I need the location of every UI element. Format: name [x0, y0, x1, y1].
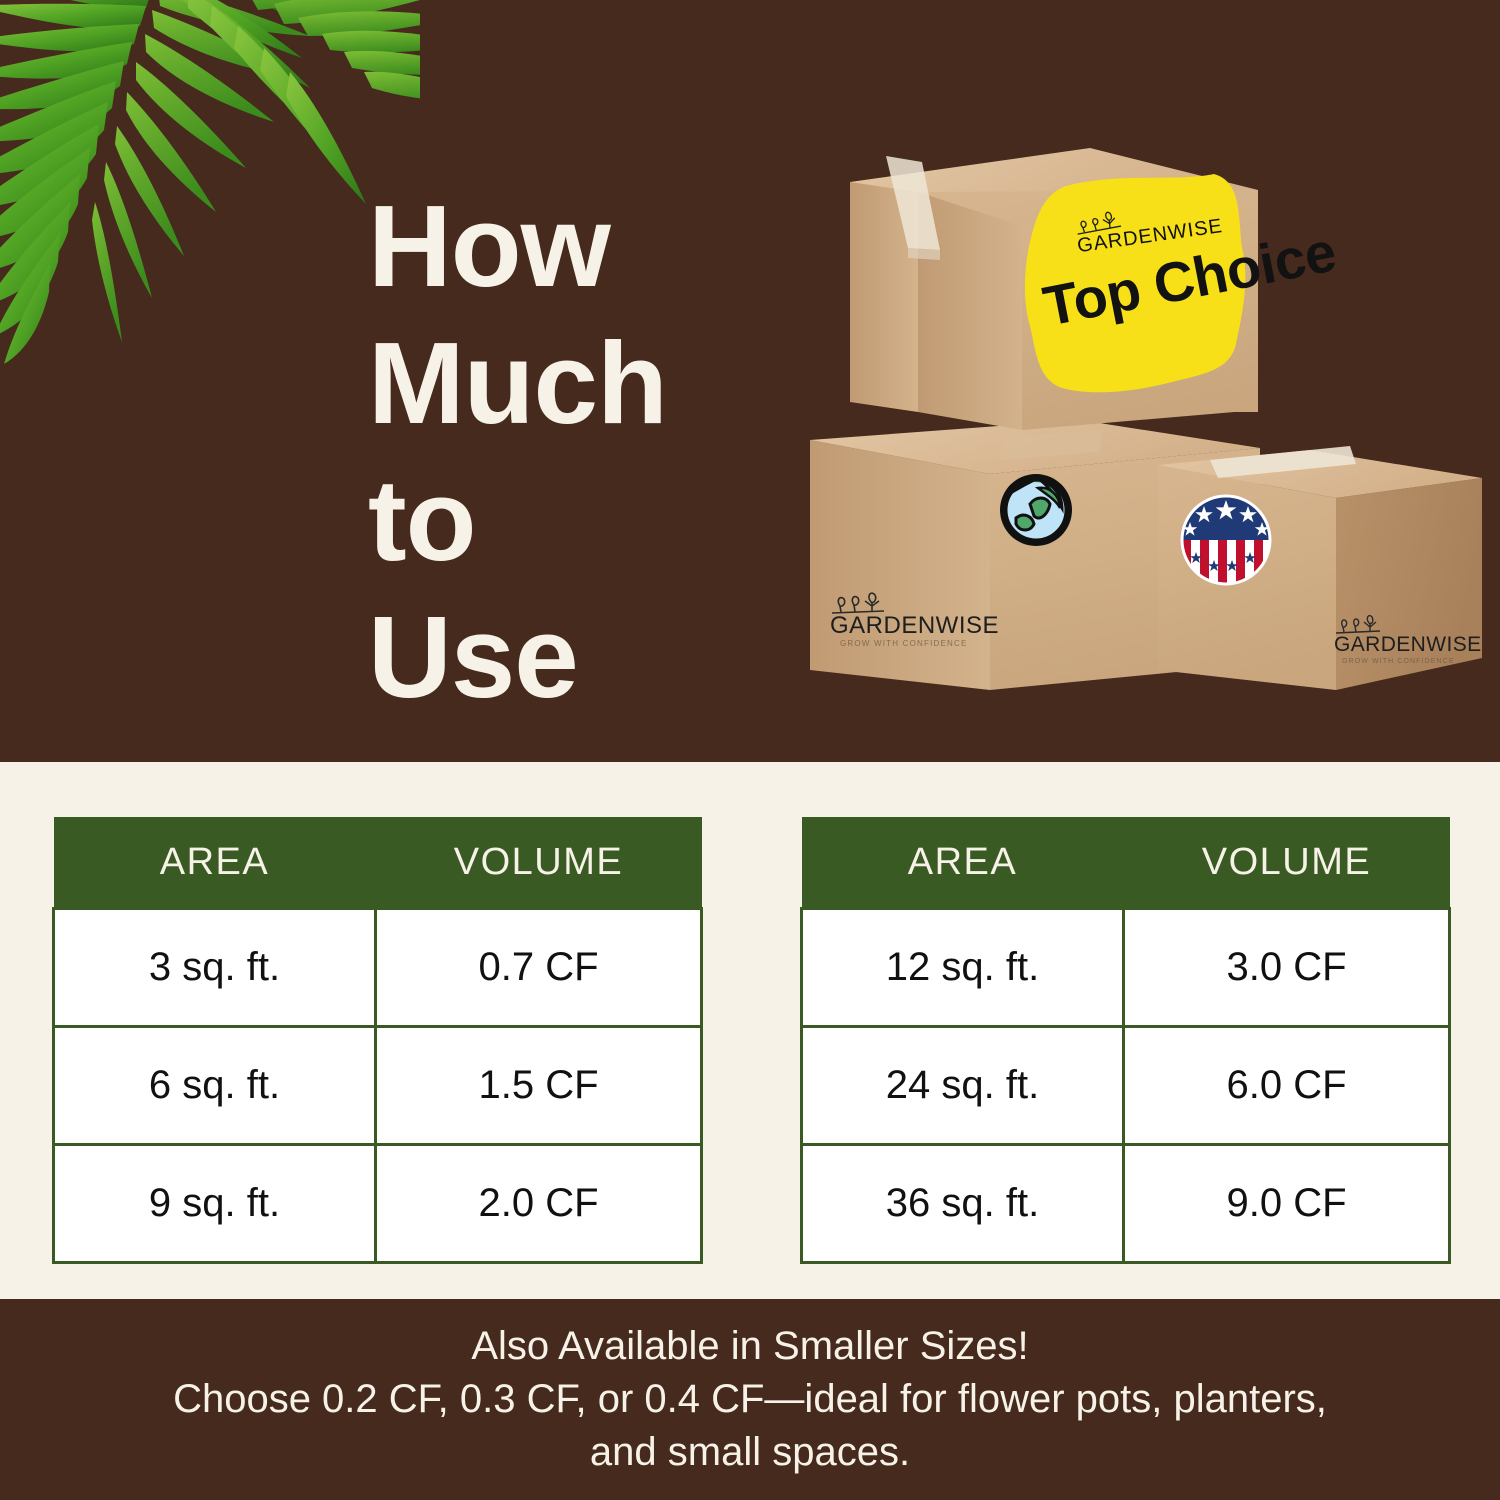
- column-header-area: AREA: [802, 817, 1124, 909]
- page-title: How Much to Use: [368, 178, 788, 726]
- product-boxes-image: GARDENWISE GROW WITH CONFIDENCE: [790, 130, 1490, 720]
- cell-volume: 1.5 CF: [376, 1027, 702, 1145]
- cell-volume: 9.0 CF: [1124, 1145, 1450, 1263]
- cell-area: 36 sq. ft.: [802, 1145, 1124, 1263]
- cell-volume: 3.0 CF: [1124, 909, 1450, 1027]
- cell-area: 6 sq. ft.: [54, 1027, 376, 1145]
- earth-leaf-icon: [1000, 474, 1072, 546]
- hero-section: How Much to Use: [0, 0, 1500, 762]
- tables-section: AREA VOLUME 3 sq. ft. 0.7 CF 6 sq. ft. 1…: [0, 762, 1500, 1299]
- title-line-3: Use: [368, 589, 788, 726]
- cell-volume: 6.0 CF: [1124, 1027, 1450, 1145]
- area-volume-table-right: AREA VOLUME 12 sq. ft. 3.0 CF 24 sq. ft.…: [800, 817, 1451, 1264]
- footer-section: Also Available in Smaller Sizes! Choose …: [0, 1299, 1500, 1500]
- title-line-2: Much to: [368, 315, 788, 589]
- footer-line-3: and small spaces.: [590, 1426, 910, 1479]
- box-top: GARDENWISE Top Choice: [850, 148, 1341, 430]
- svg-text:GARDENWISE: GARDENWISE: [1334, 633, 1482, 656]
- box-right: GARDENWISE GROW WITH CONFIDENCE: [1158, 446, 1482, 690]
- palm-frond-decoration: [0, 0, 420, 370]
- cell-volume: 0.7 CF: [376, 909, 702, 1027]
- table-header-row: AREA VOLUME: [802, 817, 1450, 909]
- cell-volume: 2.0 CF: [376, 1145, 702, 1263]
- svg-text:GARDENWISE: GARDENWISE: [830, 612, 999, 639]
- column-header-volume: VOLUME: [1124, 817, 1450, 909]
- footer-line-2: Choose 0.2 CF, 0.3 CF, or 0.4 CF—ideal f…: [173, 1373, 1327, 1426]
- table-row: 9 sq. ft. 2.0 CF: [54, 1145, 702, 1263]
- promo-infographic: How Much to Use: [0, 0, 1500, 1500]
- area-volume-table-left: AREA VOLUME 3 sq. ft. 0.7 CF 6 sq. ft. 1…: [52, 817, 703, 1264]
- table-header-row: AREA VOLUME: [54, 817, 702, 909]
- column-header-area: AREA: [54, 817, 376, 909]
- palm-frond-icon: [0, 0, 420, 370]
- cell-area: 12 sq. ft.: [802, 909, 1124, 1027]
- table-row: 24 sq. ft. 6.0 CF: [802, 1027, 1450, 1145]
- svg-text:GROW WITH CONFIDENCE: GROW WITH CONFIDENCE: [1342, 658, 1455, 665]
- footer-line-1: Also Available in Smaller Sizes!: [471, 1320, 1028, 1373]
- column-header-volume: VOLUME: [376, 817, 702, 909]
- stacked-boxes-illustration: GARDENWISE GROW WITH CONFIDENCE: [790, 130, 1490, 720]
- table-row: 12 sq. ft. 3.0 CF: [802, 909, 1450, 1027]
- title-line-1: How: [368, 178, 788, 315]
- table-row: 3 sq. ft. 0.7 CF: [54, 909, 702, 1027]
- cell-area: 24 sq. ft.: [802, 1027, 1124, 1145]
- table-row: 36 sq. ft. 9.0 CF: [802, 1145, 1450, 1263]
- cell-area: 9 sq. ft.: [54, 1145, 376, 1263]
- svg-text:GROW WITH CONFIDENCE: GROW WITH CONFIDENCE: [840, 639, 968, 648]
- table-row: 6 sq. ft. 1.5 CF: [54, 1027, 702, 1145]
- cell-area: 3 sq. ft.: [54, 909, 376, 1027]
